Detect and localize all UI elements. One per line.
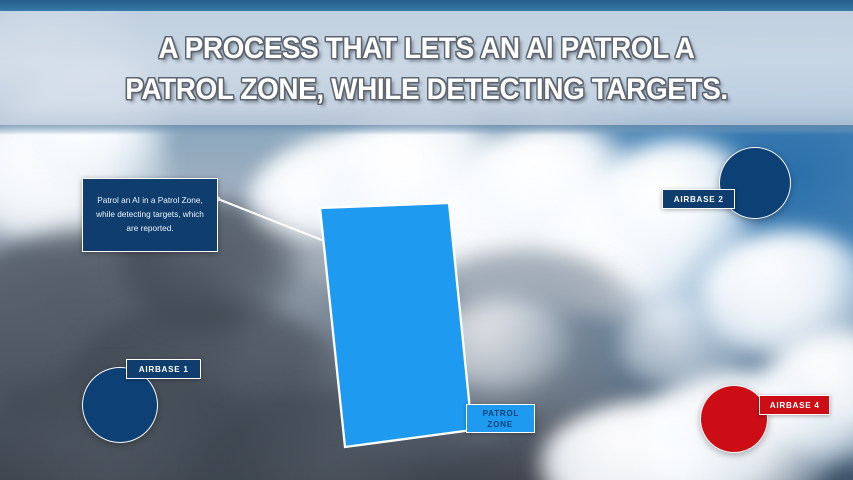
slide-canvas: A PROCESS THAT LETS AN AI PATROL A PATRO… xyxy=(0,0,853,480)
callout-box[interactable]: Patrol an AI in a Patrol Zone, while det… xyxy=(82,178,218,252)
patrol-zone-label-line-2: ZONE xyxy=(488,419,513,430)
airbase-4-circle[interactable] xyxy=(700,385,768,453)
airbase-1-label[interactable]: AIRBASE 1 xyxy=(126,359,201,379)
airbase-1-label-text: AIRBASE 1 xyxy=(139,364,189,374)
airbase-2-label-text: AIRBASE 2 xyxy=(674,194,724,204)
patrol-zone-label[interactable]: PATROL ZONE xyxy=(466,404,535,433)
callout-text: Patrol an AI in a Patrol Zone, while det… xyxy=(86,194,215,236)
airbase-2-label[interactable]: AIRBASE 2 xyxy=(662,189,735,209)
patrol-zone-label-line-1: PATROL xyxy=(482,408,519,419)
airbase-4-label[interactable]: AIRBASE 4 xyxy=(759,395,830,415)
airbase-4-label-text: AIRBASE 4 xyxy=(770,400,820,410)
